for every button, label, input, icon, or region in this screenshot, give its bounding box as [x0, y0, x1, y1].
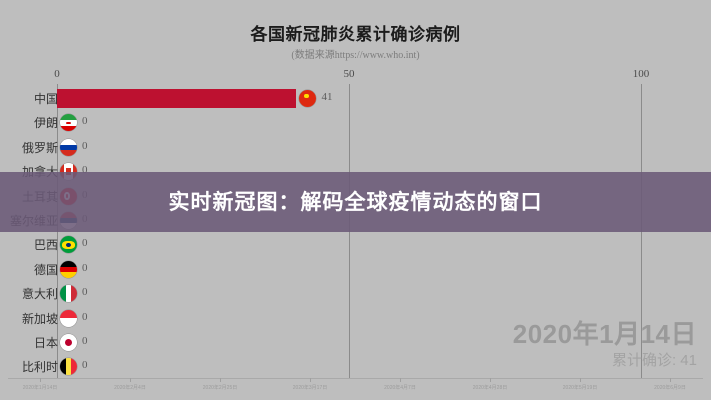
bar-row: 意大利0 [0, 283, 711, 304]
country-label: 新加坡 [0, 310, 58, 327]
chart-canvas: 各国新冠肺炎累计确诊病例 (数据来源https://www.who.int) 0… [0, 0, 711, 400]
timeline-tick [490, 378, 491, 382]
country-label: 中国 [0, 90, 58, 107]
timeline-tick [220, 378, 221, 382]
timeline-label: 2020年5月19日 [563, 384, 597, 391]
date-readout: 2020年1月14日 [513, 314, 697, 351]
bar-row: 伊朗0 [0, 112, 711, 133]
timeline-label: 2020年6月9日 [654, 384, 686, 391]
bar-row: 中国41 [0, 88, 711, 109]
timeline-tick [310, 378, 311, 382]
timeline-tick [130, 378, 131, 382]
timeline-label: 2020年1月14日 [23, 384, 57, 391]
bar [57, 89, 296, 108]
bar-value-label: 0 [82, 237, 88, 249]
overlay-headline: 实时新冠图：解码全球疫情动态的窗口 [0, 186, 711, 216]
country-label: 日本 [0, 334, 58, 351]
bar-value-label: 0 [82, 359, 88, 371]
timeline-label: 2020年3月17日 [293, 384, 327, 391]
flag-japan-icon [60, 334, 77, 351]
bar-row: 比利时0 [0, 356, 711, 377]
timeline-tick [670, 378, 671, 382]
flag-germany-icon [60, 261, 77, 278]
bar-row: 俄罗斯0 [0, 137, 711, 158]
total-cases-readout: 累计确诊: 41 [612, 349, 697, 370]
timeline-baseline [8, 378, 703, 379]
country-label: 伊朗 [0, 114, 58, 131]
country-label: 俄罗斯 [0, 139, 58, 156]
timeline-label: 2020年4月7日 [384, 384, 416, 391]
bar-value-label: 0 [82, 262, 88, 274]
flag-iran-icon [60, 114, 77, 131]
country-label: 意大利 [0, 285, 58, 302]
flag-china-icon [299, 90, 316, 107]
bar-value-label: 0 [82, 335, 88, 347]
bar-value-label: 41 [321, 91, 332, 103]
bar-value-label: 0 [82, 115, 88, 127]
timeline-tick [400, 378, 401, 382]
bar-row: 德国0 [0, 259, 711, 280]
timeline-axis[interactable]: 2020年1月14日2020年2月4日2020年2月25日2020年3月17日2… [0, 378, 711, 400]
bar-row: 巴西0 [0, 234, 711, 255]
bar-value-label: 0 [82, 311, 88, 323]
bar-value-label: 0 [82, 286, 88, 298]
flag-singapore-icon [60, 310, 77, 327]
country-label: 巴西 [0, 236, 58, 253]
timeline-label: 2020年2月25日 [203, 384, 237, 391]
flag-russia-icon [60, 139, 77, 156]
flag-brazil-icon [60, 236, 77, 253]
timeline-label: 2020年2月4日 [114, 384, 146, 391]
timeline-tick [580, 378, 581, 382]
timeline-label: 2020年4月28日 [473, 384, 507, 391]
country-label: 比利时 [0, 358, 58, 375]
timeline-tick [40, 378, 41, 382]
country-label: 德国 [0, 261, 58, 278]
flag-belgium-icon [60, 358, 77, 375]
flag-italy-icon [60, 285, 77, 302]
bar-value-label: 0 [82, 140, 88, 152]
